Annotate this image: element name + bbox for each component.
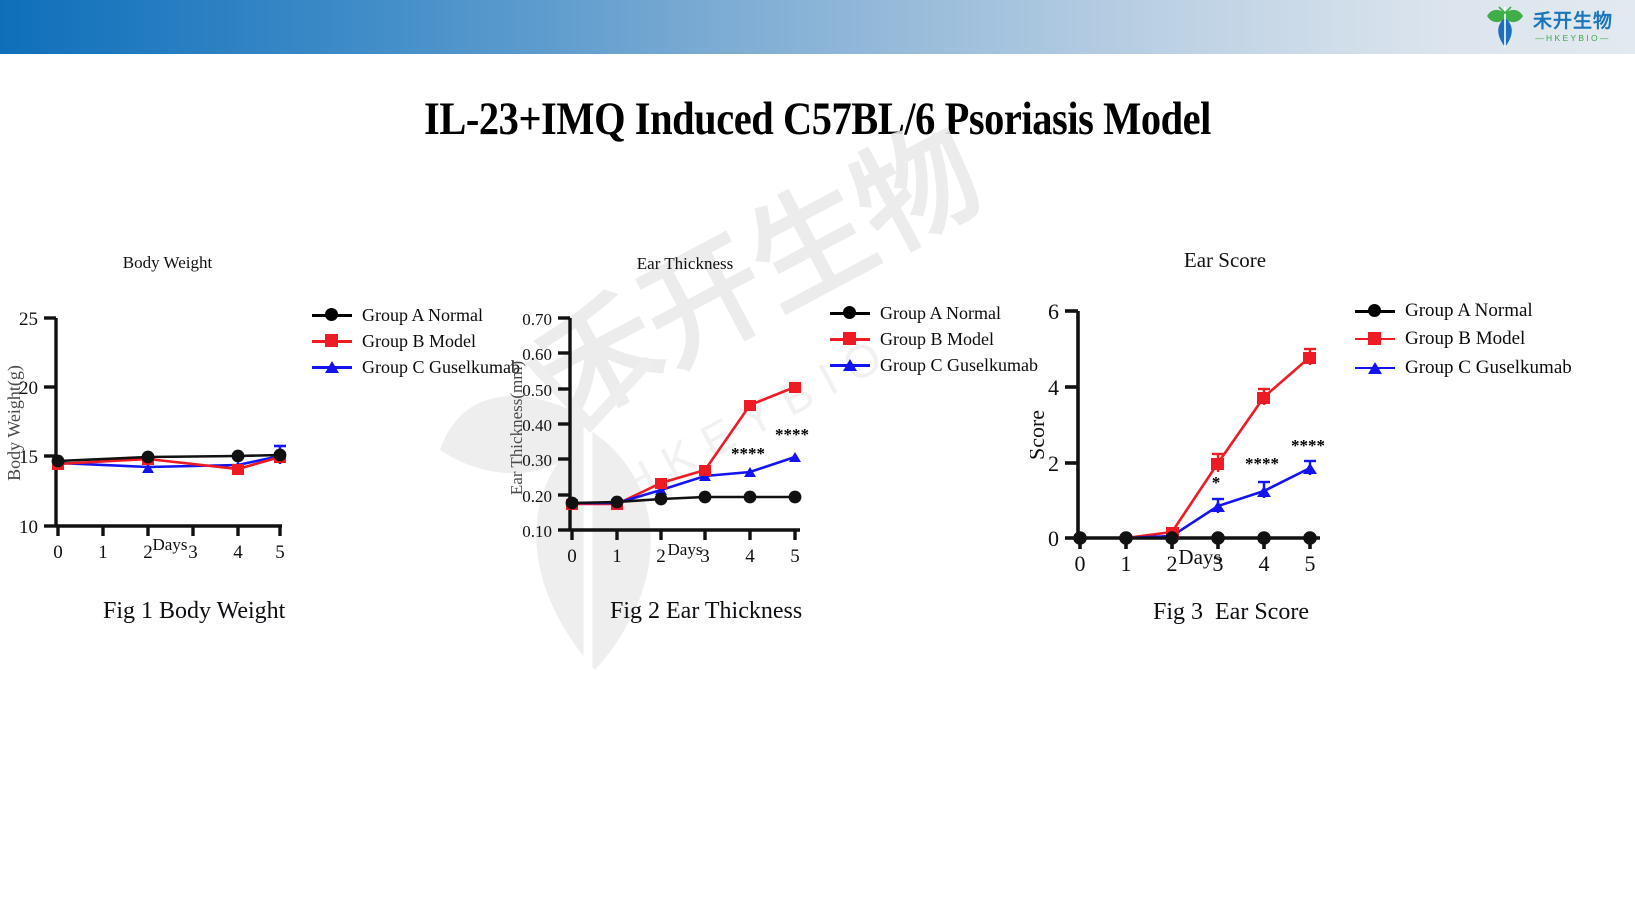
chart-title-ear-score: Ear Score bbox=[1120, 248, 1330, 273]
legend-label-group-c: Group C Guselkumab bbox=[880, 355, 1038, 376]
svg-text:5: 5 bbox=[790, 546, 800, 567]
svg-text:Ear Thickness(mm): Ear Thickness(mm) bbox=[507, 361, 526, 495]
figure-caption-3: Fig 3 Ear Score bbox=[1153, 599, 1309, 626]
svg-text:Score: Score bbox=[1030, 410, 1049, 460]
legend-item[interactable]: Group A Normal bbox=[312, 302, 520, 328]
svg-text:0: 0 bbox=[567, 546, 577, 567]
slide-page: 禾开生物 —HKEYBIO— IL-23+IMQ Induced C57BL/6… bbox=[0, 0, 1635, 909]
chart-title-body-weight: Body Weight bbox=[60, 253, 275, 273]
figure-ear-score: Ear Score 6 4 2 0 0 1 2 3 4 5 bbox=[1030, 245, 1620, 585]
svg-text:5: 5 bbox=[1305, 551, 1316, 575]
svg-text:4: 4 bbox=[1048, 375, 1059, 400]
header-bar: 禾开生物 —HKEYBIO— bbox=[0, 0, 1635, 54]
legend-fig2: Group A Normal Group B Model Group C Gus… bbox=[830, 300, 1038, 378]
legend-marker-square-icon bbox=[312, 334, 352, 348]
svg-text:0: 0 bbox=[53, 542, 63, 563]
svg-text:25: 25 bbox=[19, 309, 38, 330]
legend-item[interactable]: Group C Guselkumab bbox=[1355, 353, 1572, 382]
legend-label-group-c: Group C Guselkumab bbox=[1405, 357, 1572, 379]
svg-text:0.40: 0.40 bbox=[522, 416, 552, 435]
svg-text:0.30: 0.30 bbox=[522, 451, 552, 470]
legend-marker-circle-icon bbox=[830, 306, 870, 320]
legend-label-group-b: Group B Model bbox=[1405, 328, 1525, 350]
company-logo: 禾开生物 —HKEYBIO— bbox=[1485, 5, 1613, 49]
svg-text:10: 10 bbox=[19, 517, 38, 538]
chart-canvas-ear-thickness: 0.70 0.60 0.50 0.40 0.30 0.20 0.10 0 1 2… bbox=[500, 278, 850, 568]
legend-label-group-a: Group A Normal bbox=[880, 303, 1001, 324]
legend-label-group-a: Group A Normal bbox=[362, 305, 483, 326]
legend-marker-square-icon bbox=[1355, 332, 1395, 346]
page-title: IL-23+IMQ Induced C57BL/6 Psoriasis Mode… bbox=[114, 92, 1520, 146]
significance-marker: **** bbox=[775, 425, 809, 444]
legend-label-group-b: Group B Model bbox=[880, 329, 994, 350]
logo-brand-en: —HKEYBIO— bbox=[1535, 34, 1611, 43]
legend-fig3: Group A Normal Group B Model Group C Gus… bbox=[1355, 298, 1572, 382]
chart-title-ear-thickness: Ear Thickness bbox=[570, 254, 800, 274]
svg-text:5: 5 bbox=[275, 542, 285, 563]
svg-text:2: 2 bbox=[1048, 451, 1059, 476]
logo-text-block: 禾开生物 —HKEYBIO— bbox=[1533, 12, 1613, 43]
figure-body-weight: Body Weight 25 20 15 10 0 1 2 3 bbox=[0, 250, 520, 580]
svg-text:0.50: 0.50 bbox=[522, 381, 552, 400]
svg-text:0.70: 0.70 bbox=[522, 310, 552, 329]
svg-text:6: 6 bbox=[1048, 299, 1059, 324]
legend-marker-square-icon bbox=[830, 332, 870, 346]
legend-marker-triangle-icon bbox=[312, 360, 352, 374]
svg-text:0.10: 0.10 bbox=[522, 522, 552, 541]
significance-marker: **** bbox=[731, 444, 765, 463]
svg-text:0.20: 0.20 bbox=[522, 487, 552, 506]
legend-label-group-c: Group C Guselkumab bbox=[362, 357, 520, 378]
legend-marker-triangle-icon bbox=[1355, 361, 1395, 375]
legend-label-group-b: Group B Model bbox=[362, 331, 476, 352]
logo-brand-cn: 禾开生物 bbox=[1533, 12, 1613, 31]
legend-item[interactable]: Group C Guselkumab bbox=[312, 354, 520, 380]
svg-text:0.60: 0.60 bbox=[522, 345, 552, 364]
legend-marker-triangle-icon bbox=[830, 358, 870, 372]
legend-item[interactable]: Group C Guselkumab bbox=[830, 352, 1038, 378]
legend-item[interactable]: Group B Model bbox=[830, 326, 1038, 352]
significance-marker: * bbox=[1212, 473, 1221, 492]
legend-marker-circle-icon bbox=[1355, 304, 1395, 318]
legend-item[interactable]: Group A Normal bbox=[1355, 298, 1572, 324]
legend-label-group-a: Group A Normal bbox=[1405, 300, 1533, 322]
significance-marker: **** bbox=[1245, 454, 1279, 473]
chart-canvas-body-weight: 25 20 15 10 0 1 2 3 4 5 Body Weight(g) bbox=[0, 278, 330, 568]
chart-canvas-ear-score: 6 4 2 0 0 1 2 3 4 5 Score bbox=[1030, 275, 1390, 575]
svg-text:0: 0 bbox=[1075, 551, 1086, 575]
legend-item[interactable]: Group A Normal bbox=[830, 300, 1038, 326]
svg-text:Body Weight(g): Body Weight(g) bbox=[4, 365, 25, 481]
leaf-logo-icon bbox=[1485, 6, 1525, 48]
legend-item[interactable]: Group B Model bbox=[312, 328, 520, 354]
figure-caption-1: Fig 1 Body Weight bbox=[103, 598, 285, 625]
figure-ear-thickness: Ear Thickness 0.70 0.60 0.50 0.40 0.30 0… bbox=[500, 250, 1060, 580]
x-axis-label-fig3: Days bbox=[1125, 545, 1275, 570]
legend-fig1: Group A Normal Group B Model Group C Gus… bbox=[312, 302, 520, 380]
significance-marker: **** bbox=[1291, 436, 1325, 455]
x-axis-label-fig1: Days bbox=[95, 535, 245, 555]
legend-marker-circle-icon bbox=[312, 308, 352, 322]
figure-caption-2: Fig 2 Ear Thickness bbox=[610, 598, 802, 625]
svg-text:0: 0 bbox=[1048, 526, 1059, 551]
x-axis-label-fig2: Days bbox=[610, 540, 760, 560]
legend-item[interactable]: Group B Model bbox=[1355, 324, 1572, 353]
